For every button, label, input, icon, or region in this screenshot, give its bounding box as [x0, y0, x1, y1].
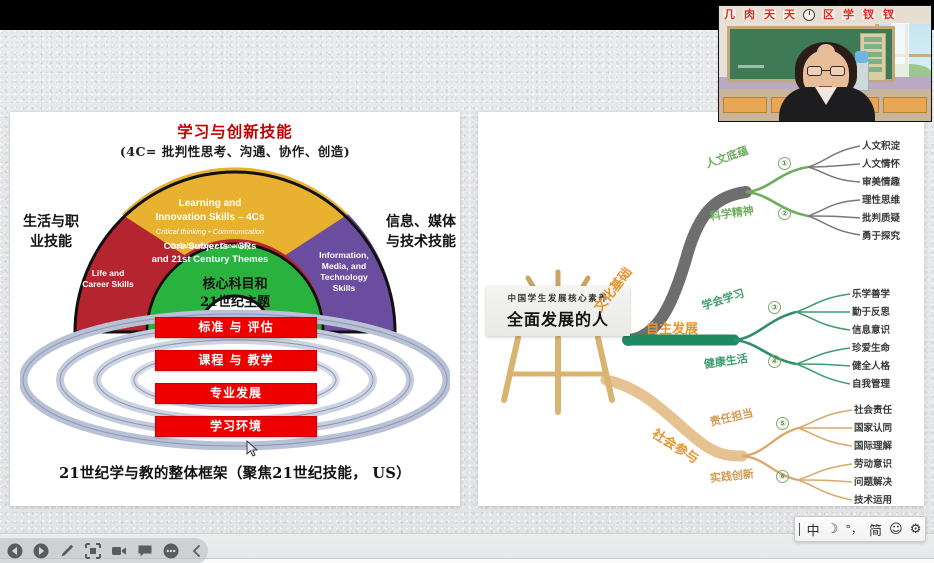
arc-info-line2: Media, and: [322, 261, 366, 271]
ime-caret-icon: [799, 523, 800, 536]
support-bar-standards[interactable]: 标准 与 评估: [155, 317, 317, 338]
side-label-life-line1: 生活与职: [23, 214, 79, 230]
chat-button[interactable]: [133, 539, 156, 563]
arc-learn-line1: Learning and: [179, 198, 242, 209]
slide-right-core-competencies-mindmap[interactable]: 中国学生发展核心素养 全面发展的人 文化基础 自主发展 社会参与 人文底蕴 ① …: [478, 112, 924, 506]
trunk-label-autonomous-development[interactable]: 自主发展: [646, 318, 698, 337]
ime-punctuation-toggle[interactable]: °，: [845, 521, 862, 537]
ime-moon-icon[interactable]: ☽: [827, 522, 839, 537]
side-label-info-line2: 与技术技能: [386, 234, 456, 250]
easel-sign-title: 全面发展的人: [507, 306, 609, 330]
leaf-labor-awareness[interactable]: 劳动意识: [854, 456, 892, 470]
leaf-international-understanding[interactable]: 国际理解: [854, 438, 892, 452]
leaf-national-identity[interactable]: 国家认同: [854, 420, 892, 434]
banner-char-7: 钗: [862, 9, 875, 20]
banner-char-5: 区: [822, 9, 835, 20]
classroom-banner: 几 肉 天 天 区 学 钗 钗: [719, 6, 932, 23]
arc-info-line1: Information,: [319, 250, 369, 260]
video-camera-button[interactable]: [108, 539, 131, 563]
arc-life-line2: Career Skills: [82, 279, 134, 289]
arc-label-information-media-technology: Information, Media, and Technology Skill…: [308, 250, 380, 294]
note-row: [864, 37, 882, 42]
glasses-bridge: [822, 70, 830, 71]
side-label-info-line1: 信息、媒体: [386, 214, 456, 230]
core-cn-line2: 21世纪主题: [200, 295, 270, 310]
left-slide-title: 学习与创新技能: [10, 120, 460, 142]
leaf-humanistic-accumulation[interactable]: 人文积淀: [862, 138, 900, 152]
support-bar-learning-environment[interactable]: 学习环境: [155, 416, 317, 437]
leaf-information-awareness[interactable]: 信息意识: [852, 322, 890, 336]
leaf-rational-thinking[interactable]: 理性思维: [862, 192, 900, 206]
arc-label-core-subjects: Core Subjects – 3Rs and 21st Century The…: [134, 240, 286, 266]
branch-badge-3: ③: [768, 301, 781, 314]
clock-icon: [803, 9, 815, 21]
support-bar-curriculum[interactable]: 课程 与 教学: [155, 350, 317, 371]
branch-badge-6: ⑥: [776, 470, 789, 483]
more-options-button[interactable]: [159, 539, 182, 563]
arc-learn-line3: Critical thinking • Communication: [156, 227, 264, 236]
banner-char-3: 天: [763, 9, 776, 20]
core-cn-line1: 核心科目和: [202, 277, 267, 292]
annotate-pencil-button[interactable]: [56, 539, 79, 563]
chalk-mark: [738, 65, 764, 68]
note-row: [864, 44, 882, 49]
banner-char-2: 肉: [743, 9, 756, 20]
arc-label-life-career: Life and Career Skills: [70, 268, 146, 290]
side-label-life-line2: 业技能: [30, 234, 72, 250]
collapse-toolbar-button[interactable]: [185, 539, 208, 563]
next-slide-button[interactable]: [30, 539, 53, 563]
branch-badge-5: ⑤: [776, 417, 789, 430]
side-label-info-media-cn: 信息、媒体 与技术技能: [384, 212, 458, 252]
arc-core-line1: Core Subjects – 3Rs: [164, 241, 257, 252]
banner-char-8: 钗: [882, 9, 895, 20]
banner-char-4: 天: [783, 9, 796, 20]
arc-life-line1: Life and: [92, 268, 125, 278]
leaf-sound-personality[interactable]: 健全人格: [852, 358, 890, 372]
slide-left-21st-century-framework[interactable]: 学习与创新技能 (4C= 批判性思考、沟通、协作、创造) Life and Ca…: [10, 112, 460, 506]
focus-capture-button[interactable]: [82, 539, 105, 563]
ime-language-toggle[interactable]: 中: [807, 520, 820, 539]
side-label-life-career-cn: 生活与职 业技能: [16, 212, 86, 252]
previous-slide-button[interactable]: [4, 539, 27, 563]
branch-badge-1: ①: [778, 157, 791, 170]
leaf-technology-application[interactable]: 技术运用: [854, 492, 892, 506]
arc-learn-line2: Innovation Skills – 4Cs: [156, 212, 265, 223]
support-bar-professional-development[interactable]: 专业发展: [155, 383, 317, 404]
leaf-social-responsibility[interactable]: 社会责任: [854, 402, 892, 416]
classroom-desk: [723, 97, 767, 113]
arc-core-line2: and 21st Century Themes: [152, 254, 269, 265]
banner-char-6: 学: [842, 9, 855, 20]
glasses-lens-left: [807, 66, 822, 76]
banner-char-1: 几: [723, 9, 736, 20]
leaf-aesthetic-taste[interactable]: 审美情趣: [862, 174, 900, 188]
leaf-cherish-life[interactable]: 珍爱生命: [852, 340, 890, 354]
ime-emoji-button[interactable]: ☺: [889, 522, 903, 537]
left-slide-caption: 21世纪学与教的整体框架（聚焦21世纪技能， US）: [10, 462, 460, 483]
branch-badge-4: ④: [768, 355, 781, 368]
glasses-lens-right: [830, 66, 845, 76]
ime-floating-bar[interactable]: 中 ☽ °， 简 ☺ ⚙: [794, 516, 926, 542]
leaf-self-management[interactable]: 自我管理: [852, 376, 890, 390]
core-subjects-chinese-label: 核心科目和 21世纪主题: [155, 276, 315, 312]
arc-info-line3: Technology: [320, 272, 368, 282]
person-glasses: [807, 66, 845, 76]
person-hair-part: [817, 44, 835, 60]
leaf-humanistic-feelings[interactable]: 人文情怀: [862, 156, 900, 170]
arc-info-line4: Skills: [333, 283, 355, 293]
mouse-cursor: [246, 440, 259, 458]
screen-root: 学习与创新技能 (4C= 批判性思考、沟通、协作、创造) Life and Ca…: [0, 0, 934, 563]
ime-settings-button[interactable]: ⚙: [910, 522, 922, 537]
ime-simplified-toggle[interactable]: 简: [869, 520, 882, 539]
leaf-critical-questioning[interactable]: 批判质疑: [862, 210, 900, 224]
leaf-courage-to-explore[interactable]: 勇于探究: [862, 228, 900, 242]
branch-badge-2: ②: [778, 207, 791, 220]
webcam-video-tile[interactable]: 几 肉 天 天 区 学 钗 钗: [718, 5, 932, 122]
presentation-toolbar[interactable]: [0, 538, 208, 563]
leaf-diligent-reflection[interactable]: 勤于反思: [852, 304, 890, 318]
leaf-joyful-learning[interactable]: 乐学善学: [852, 286, 890, 300]
classroom-desk: [883, 97, 927, 113]
leaf-problem-solving[interactable]: 问题解决: [854, 474, 892, 488]
